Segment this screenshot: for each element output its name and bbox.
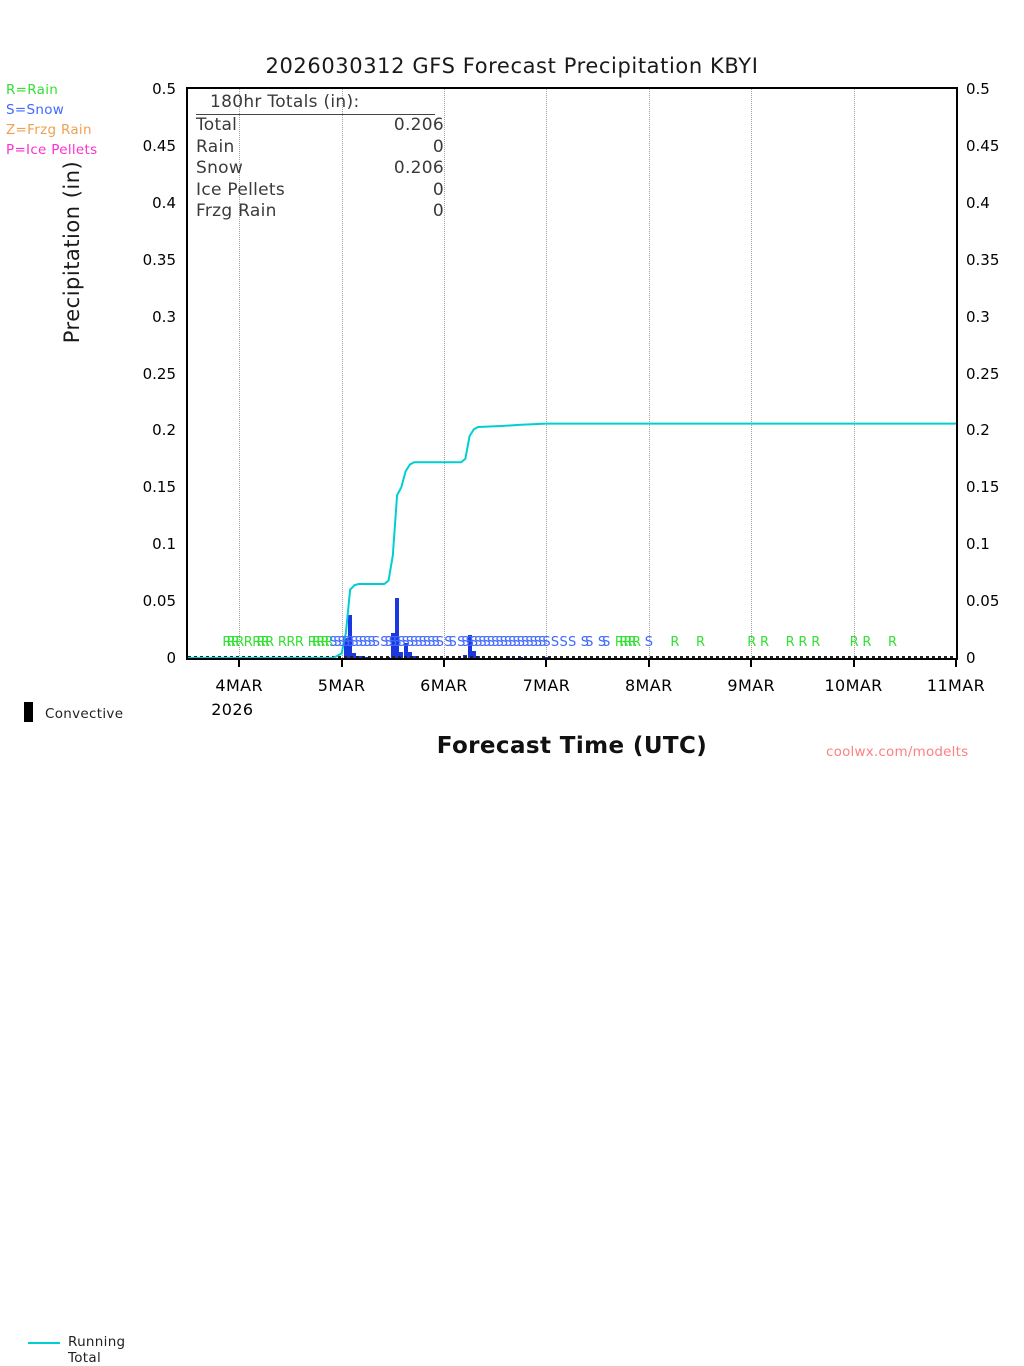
- ptype-char-rain: R: [862, 636, 871, 650]
- ptype-char-rain: R: [747, 636, 756, 650]
- y-tick-label-right: 0.4: [966, 194, 1024, 212]
- y-tick-label-left: 0.5: [66, 80, 176, 98]
- ptype-char-snow: S: [568, 636, 576, 650]
- ptype-char-snow: S: [449, 636, 457, 650]
- y-tick-label-right: 0.45: [966, 137, 1024, 155]
- x-tick: [443, 660, 445, 667]
- y-tick-label-right: 0: [966, 649, 1024, 667]
- y-tick-label-left: 0.4: [66, 194, 176, 212]
- x-tick: [545, 660, 547, 667]
- ptype-char-snow: S: [551, 636, 559, 650]
- totals-row-ice-pellets: Ice Pellets 0: [196, 180, 516, 202]
- totals-box-title: 180hr Totals (in):: [196, 90, 435, 115]
- x-tick: [955, 660, 957, 667]
- y-tick-label-right: 0.35: [966, 251, 1024, 269]
- totals-value-ice-pellets: 0: [354, 180, 444, 202]
- totals-value-frzg-rain: 0: [354, 201, 444, 223]
- totals-value-snow: 0.206: [354, 158, 444, 180]
- totals-label-snow: Snow: [196, 158, 354, 180]
- ptype-character-row: RRRRRRRRRRRRRRRRRSSSSSSSSSSSSSSSSSSSSSSS…: [186, 636, 958, 654]
- ptype-char-rain: R: [295, 636, 304, 650]
- x-tick-label-11mar: 11MAR: [896, 676, 1016, 695]
- y-tick-label-left: 0.2: [66, 421, 176, 439]
- x-tick: [341, 660, 343, 667]
- y-tick-label-left: 0.45: [66, 137, 176, 155]
- ptype-char-snow: S: [602, 636, 610, 650]
- ptype-char-snow: S: [645, 636, 653, 650]
- legend-running-total-label: Running Total: [68, 1334, 125, 1366]
- ptype-char-rain: R: [850, 636, 859, 650]
- totals-value-rain: 0: [354, 137, 444, 159]
- y-tick-label-left: 0.35: [66, 251, 176, 269]
- ptype-char-rain: R: [265, 636, 274, 650]
- y-tick-label-left: 0: [66, 649, 176, 667]
- totals-label-total: Total: [196, 115, 354, 137]
- y-tick-label-right: 0.25: [966, 365, 1024, 383]
- page-title: 2026030312 GFS Forecast Precipitation KB…: [0, 54, 1024, 78]
- ptype-char-snow: S: [585, 636, 593, 650]
- y-tick-label-right: 0.15: [966, 478, 1024, 496]
- y-tick-label-right: 0.05: [966, 592, 1024, 610]
- x-tick: [648, 660, 650, 667]
- totals-row-total: Total 0.206: [196, 115, 516, 137]
- y-tick-label-right: 0.3: [966, 308, 1024, 326]
- y-tick-label-right: 0.1: [966, 535, 1024, 553]
- ptype-char-rain: R: [798, 636, 807, 650]
- ptype-char-rain: R: [696, 636, 705, 650]
- totals-box: 180hr Totals (in): Total 0.206 Rain 0 Sn…: [196, 90, 516, 223]
- totals-label-ice-pellets: Ice Pellets: [196, 180, 354, 202]
- x-tick: [853, 660, 855, 667]
- legend-convective-label: Convective: [45, 706, 123, 722]
- ptype-char-rain: R: [632, 636, 641, 650]
- x-axis-year-label: 2026: [211, 700, 253, 719]
- totals-row-snow: Snow 0.206: [196, 158, 516, 180]
- watermark: coolwx.com/modelts: [826, 744, 968, 760]
- convective-swatch: [24, 702, 33, 722]
- y-tick-label-left: 0.15: [66, 478, 176, 496]
- y-tick-label-right: 0.2: [966, 421, 1024, 439]
- x-tick: [238, 660, 240, 667]
- totals-row-rain: Rain 0: [196, 137, 516, 159]
- ptype-char-rain: R: [811, 636, 820, 650]
- y-tick-label-left: 0.3: [66, 308, 176, 326]
- ptype-char-rain: R: [786, 636, 795, 650]
- totals-value-total: 0.206: [354, 115, 444, 137]
- totals-row-frzg-rain: Frzg Rain 0: [196, 201, 516, 223]
- ptype-char-snow: S: [559, 636, 567, 650]
- ptype-char-rain: R: [760, 636, 769, 650]
- ptype-char-rain: R: [888, 636, 897, 650]
- y-tick-label-left: 0.1: [66, 535, 176, 553]
- ptype-legend-item-snow: S=Snow: [6, 100, 97, 120]
- x-tick: [750, 660, 752, 667]
- y-tick-label-left: 0.25: [66, 365, 176, 383]
- totals-label-frzg-rain: Frzg Rain: [196, 201, 354, 223]
- running-total-swatch: [28, 1342, 60, 1344]
- ptype-char-snow: S: [542, 636, 550, 650]
- ptype-char-snow: S: [372, 636, 380, 650]
- y-tick-label-left: 0.05: [66, 592, 176, 610]
- ptype-char-rain: R: [670, 636, 679, 650]
- ptype-char-snow: S: [436, 636, 444, 650]
- y-tick-label-right: 0.5: [966, 80, 1024, 98]
- totals-label-rain: Rain: [196, 137, 354, 159]
